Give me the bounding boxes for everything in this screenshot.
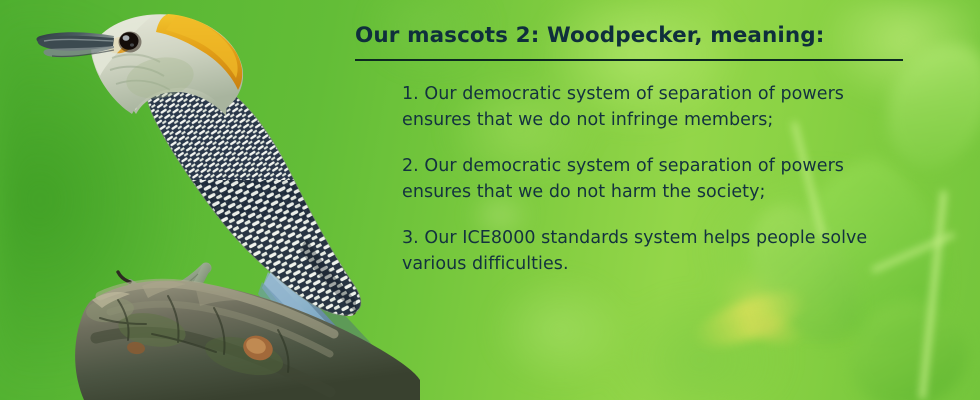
list-item: 2. Our democratic system of separation o… xyxy=(402,154,915,205)
mascot-banner: Our mascots 2: Woodpecker, meaning: 1. O… xyxy=(0,0,980,400)
list-item: 3. Our ICE8000 standards system helps pe… xyxy=(402,226,915,277)
page-title: Our mascots 2: Woodpecker, meaning: xyxy=(355,22,915,50)
mascot-meaning-list: 1. Our democratic system of separation o… xyxy=(355,82,915,277)
banner-text-column: Our mascots 2: Woodpecker, meaning: 1. O… xyxy=(355,22,915,277)
title-divider xyxy=(355,59,903,61)
bird-eye xyxy=(119,32,142,53)
list-item: 1. Our democratic system of separation o… xyxy=(402,82,915,133)
tree-branch xyxy=(75,281,420,400)
